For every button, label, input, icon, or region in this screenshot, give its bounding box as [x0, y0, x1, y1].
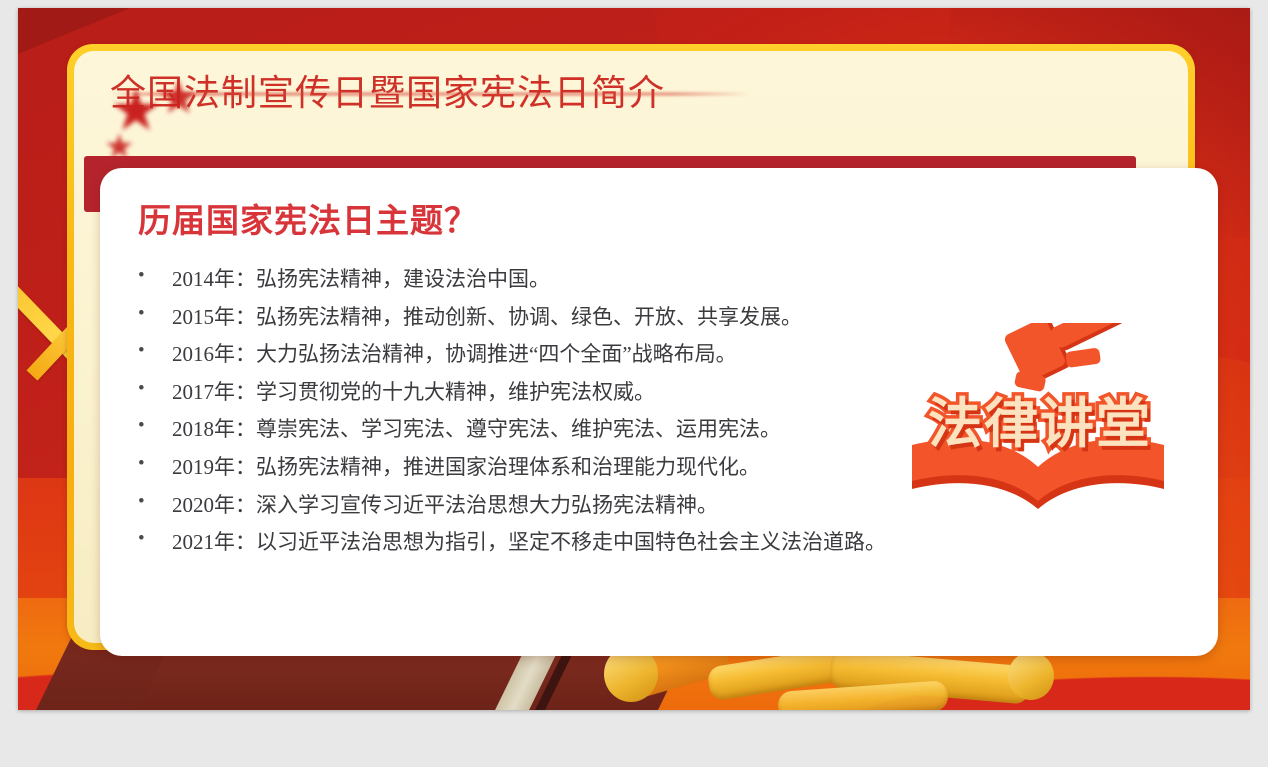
card-title: 历届国家宪法日主题？ [138, 194, 478, 242]
theme-list: 2014年：弘扬宪法精神，建设法治中国。2015年：弘扬宪法精神，推动创新、协调… [130, 268, 1198, 569]
content-card: 历届国家宪法日主题？ 2014年：弘扬宪法精神，建设法治中国。2015年：弘扬宪… [100, 168, 1218, 656]
list-item: 2017年：学习贯彻党的十九大精神，维护宪法权威。 [130, 381, 1198, 404]
list-item: 2015年：弘扬宪法精神，推动创新、协调、绿色、开放、共享发展。 [130, 306, 1198, 329]
star-icon: ★ [158, 74, 199, 120]
list-item: 2019年：弘扬宪法精神，推进国家治理体系和治理能力现代化。 [130, 456, 1198, 479]
list-item: 2016年：大力弘扬法治精神，协调推进“四个全面”战略布局。 [130, 343, 1198, 366]
pillar-cap-prop-a [1008, 652, 1054, 700]
list-item: 2021年：以习近平法治思想为指引，坚定不移走中国特色社会主义法治道路。 [130, 531, 1198, 554]
list-item: 2018年：尊崇宪法、学习宪法、遵守宪法、维护宪法、运用宪法。 [130, 418, 1198, 441]
slide-stage: 全国法制宣传日暨国家宪法日简介 ★ ★ ★ 历届国家宪法日主题？ 2014年：弘… [0, 0, 1268, 767]
presentation-slide: 全国法制宣传日暨国家宪法日简介 ★ ★ ★ 历届国家宪法日主题？ 2014年：弘… [18, 8, 1250, 710]
list-item: 2020年：深入学习宣传习近平法治思想大力弘扬宪法精神。 [130, 494, 1198, 517]
heading-rule [110, 92, 750, 96]
list-item: 2014年：弘扬宪法精神，建设法治中国。 [130, 268, 1198, 291]
